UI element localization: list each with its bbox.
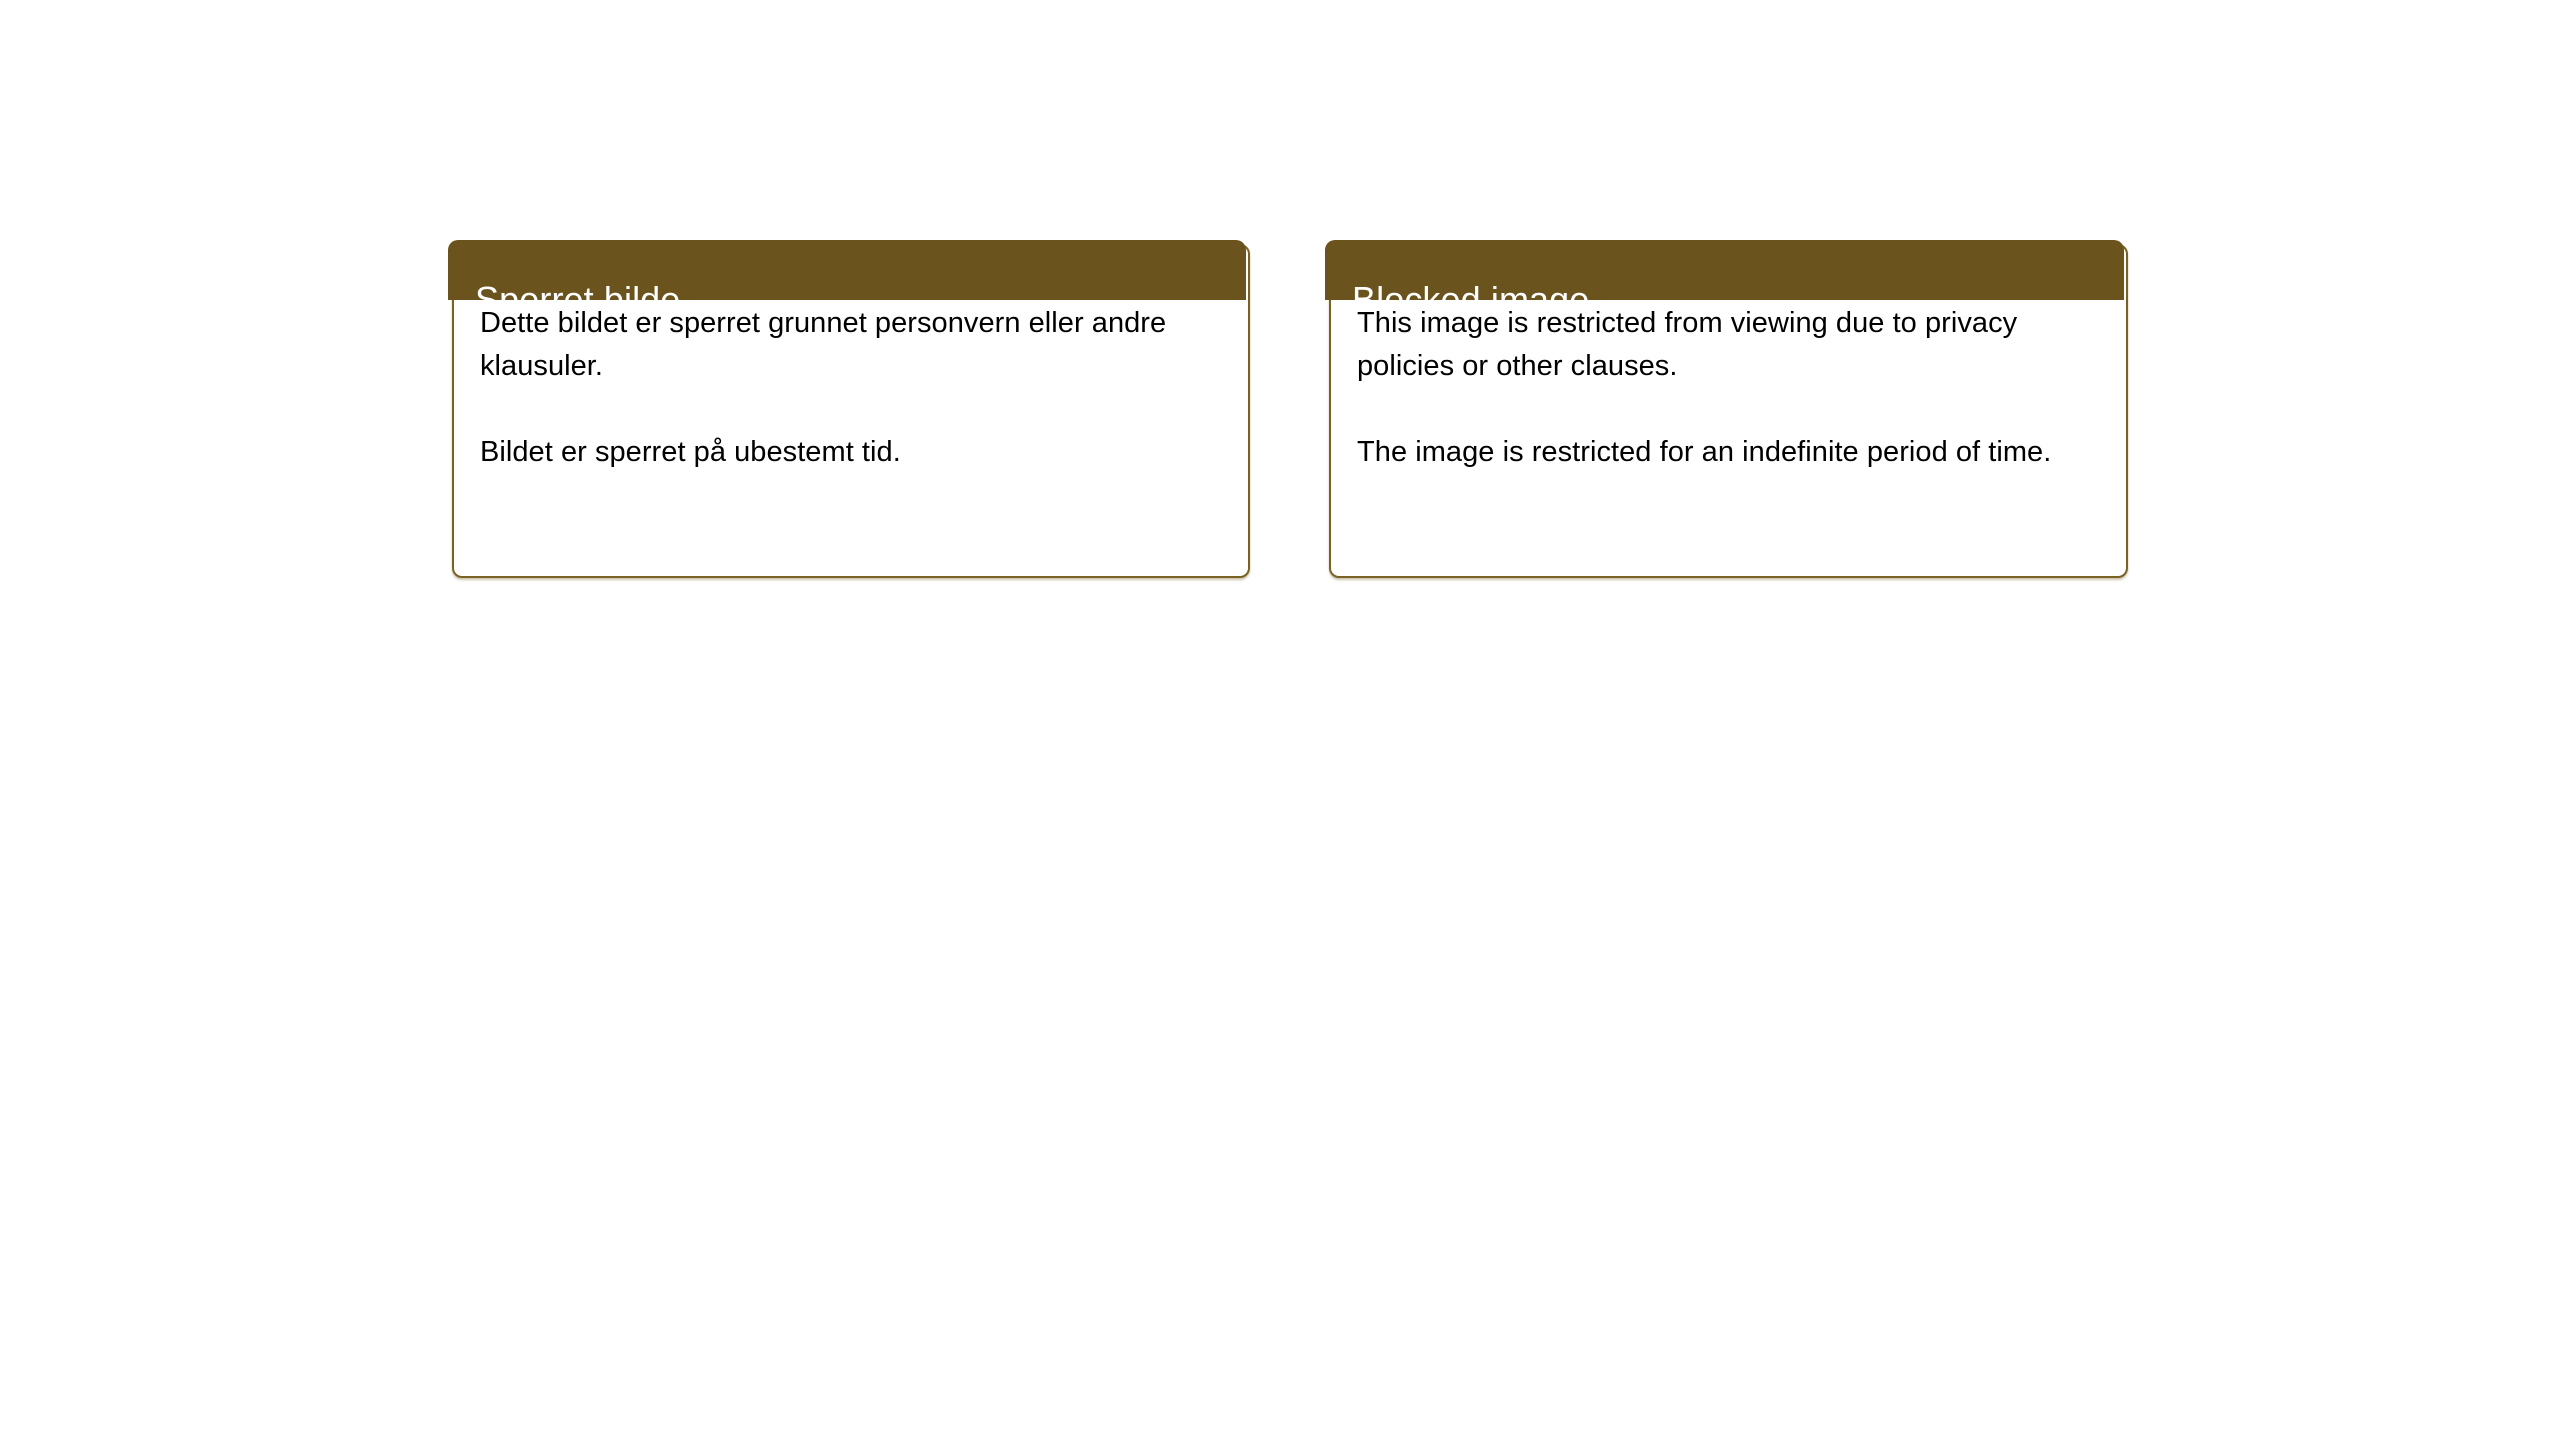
card-title: Sperret bilde: [475, 280, 680, 300]
card-header-bar: Sperret bilde: [448, 240, 1246, 300]
blocked-image-notice-norwegian: Sperret bilde Dette bildet er sperret gr…: [448, 240, 1250, 578]
card-header-bar: Blocked image: [1325, 240, 2124, 300]
blocked-image-notice-english: Blocked image This image is restricted f…: [1325, 240, 2128, 578]
notice-paragraph-restriction-reason: Dette bildet er sperret grunnet personve…: [480, 302, 1226, 388]
card-body-text: Dette bildet er sperret grunnet personve…: [454, 302, 1248, 474]
page-canvas: Sperret bilde Dette bildet er sperret gr…: [0, 0, 2560, 1440]
card-body-text: This image is restricted from viewing du…: [1331, 302, 2126, 474]
card-title: Blocked image: [1352, 280, 1589, 300]
notice-paragraph-restriction-reason: This image is restricted from viewing du…: [1357, 302, 2104, 388]
notice-paragraph-restriction-duration: Bildet er sperret på ubestemt tid.: [480, 431, 1226, 474]
notice-paragraph-restriction-duration: The image is restricted for an indefinit…: [1357, 431, 2104, 474]
